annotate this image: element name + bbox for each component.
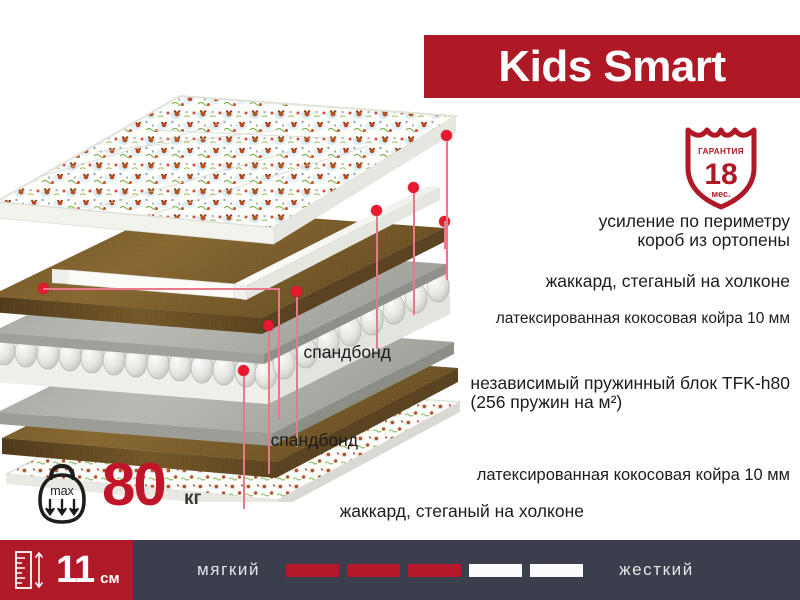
firmness-segment: [347, 564, 400, 577]
callout-line-jacquard-bottom: [243, 376, 245, 509]
firmness-soft-label: мягкий: [197, 560, 260, 580]
firmness-segment: [469, 564, 522, 577]
height-unit: см: [100, 570, 119, 587]
callout-line-jacquard-top: [446, 141, 448, 280]
callout-label-spunbond-bottom: спандбонд: [271, 431, 358, 451]
firmness-segments: [286, 564, 591, 577]
firmness-scale: мягкий жесткий: [133, 540, 800, 600]
callout-label-spunbond-top: спандбонд: [304, 343, 391, 363]
callout-line-coir-top: [413, 193, 415, 315]
callout-label-jacquard-bottom: жаккард, стеганый на холконе: [340, 502, 584, 522]
callout-dot-jacquard-top: [441, 130, 452, 141]
height-indicator: 11 см: [0, 540, 133, 600]
callout-label-jacquard-top: жаккард, стеганый на холконе: [546, 272, 790, 292]
firmness-segment: [286, 564, 339, 577]
callout-label-spring-block: независимый пружинный блок TFK-h80 (256 …: [470, 374, 790, 413]
ruler-height-icon: [14, 550, 50, 590]
callout-label-coir-top: латексированная кокосовая койра 10 мм: [496, 310, 790, 327]
max-load-value: 80: [102, 450, 165, 519]
callout-line-spunbond-bottom: [296, 297, 298, 447]
firmness-segment: [530, 564, 583, 577]
firmness-hard-label: жесткий: [619, 560, 694, 580]
callout-dot-spunbond-top: [371, 205, 382, 216]
callout-line-spring-h: [43, 288, 279, 290]
firmness-segment: [408, 564, 461, 577]
max-load-indicator: max 80 кг: [32, 460, 222, 528]
callout-dot-jacquard-bottom: [238, 365, 249, 376]
callout-line-spunbond-top: [376, 216, 378, 349]
kettlebell-max-load-icon: max: [32, 462, 92, 526]
callout-dot-coir-bottom: [263, 320, 274, 331]
max-load-icon-caption: max: [50, 484, 74, 498]
max-load-unit: кг: [184, 488, 201, 510]
bottom-spec-bar: 11 см мягкий жесткий: [0, 540, 800, 600]
callout-dot-spunbond-bottom: [291, 286, 302, 297]
product-spec-card: Kids Smart ГАРАНТИЯ 18 мес.: [0, 0, 800, 600]
callout-line-coir-bottom: [268, 331, 270, 474]
callout-dot-coir-top: [408, 182, 419, 193]
callout-label-perimeter: усиление по периметру короб из ортопены: [599, 212, 790, 251]
height-value: 11: [56, 549, 94, 592]
callout-line-spring-v: [278, 288, 280, 420]
callout-label-coir-bottom: латексированная кокосовая койра 10 мм: [477, 466, 790, 484]
